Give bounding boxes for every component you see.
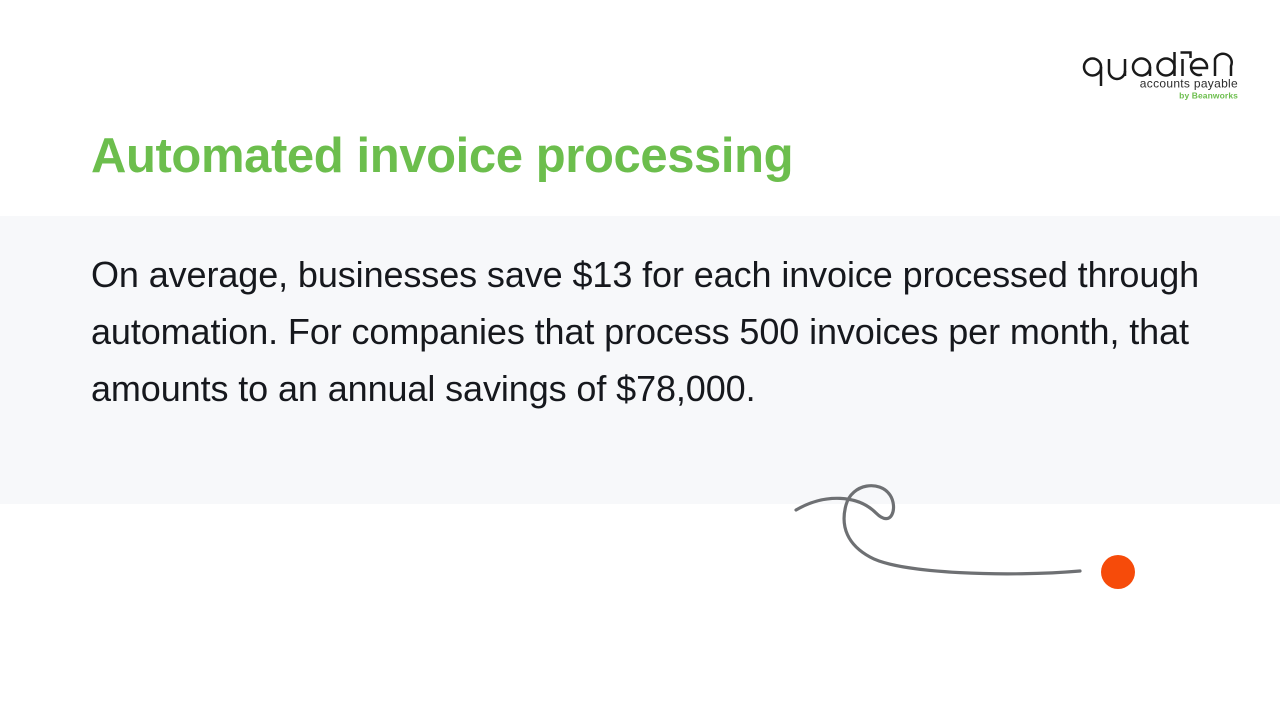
orange-dot	[1101, 555, 1135, 589]
body-statement: On average, businesses save $13 for each…	[91, 246, 1201, 417]
slide: accounts payable by Beanworks Automated …	[0, 0, 1280, 720]
logo-product-line: accounts payable	[1140, 77, 1238, 91]
page-title: Automated invoice processing	[91, 128, 793, 186]
body-panel: On average, businesses save $13 for each…	[0, 216, 1280, 504]
logo-byline: by Beanworks	[1179, 91, 1238, 101]
quadient-logo: accounts payable by Beanworks	[1078, 50, 1238, 100]
quadient-logo-mark: accounts payable by Beanworks	[1078, 50, 1238, 100]
